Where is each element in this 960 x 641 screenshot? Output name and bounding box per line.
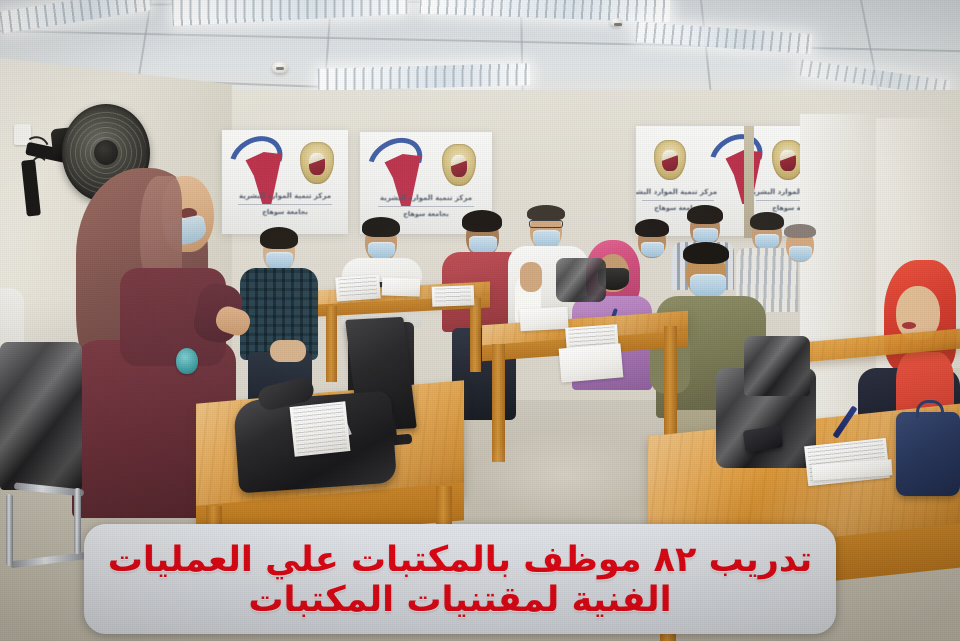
banner-org-text: مركز تنمية الموارد البشرية xyxy=(360,194,492,202)
university-crest-icon xyxy=(300,142,334,184)
papers xyxy=(432,285,475,306)
navy-bag xyxy=(896,412,960,496)
banner-sub-text: بجامعة سوهاج xyxy=(222,208,348,216)
banner-org-text: مركز تنمية الموارد البشرية xyxy=(222,192,348,200)
bag-handle xyxy=(916,400,944,418)
smoke-detector-icon xyxy=(610,18,622,26)
brooch xyxy=(176,348,198,374)
rollup-banner: مركز تنمية الموارد البشرية بجامعة سوهاج xyxy=(222,130,348,234)
chair-leg xyxy=(74,488,81,554)
papers xyxy=(382,277,421,296)
papers xyxy=(335,274,381,301)
floor-highlight xyxy=(470,430,660,520)
ceiling-light-panel xyxy=(171,0,408,26)
ceiling-light-panel xyxy=(318,63,531,91)
university-crest-icon xyxy=(654,140,686,180)
papers xyxy=(290,401,351,457)
smoke-detector-icon xyxy=(272,62,288,73)
university-crest-icon xyxy=(442,144,476,186)
papers xyxy=(519,307,568,331)
lips xyxy=(902,322,916,329)
ceiling-light-panel xyxy=(636,22,813,54)
papers xyxy=(559,343,624,382)
chair xyxy=(0,342,82,490)
chair xyxy=(744,336,810,396)
ceiling-light-panel xyxy=(420,0,671,22)
ceiling-light-panel xyxy=(0,0,151,34)
chair xyxy=(556,258,606,302)
eyeglasses-icon xyxy=(529,220,563,228)
photo-canvas: مركز تنمية الموارد البشرية بجامعة سوهاج … xyxy=(0,0,960,641)
caption-line-1: تدريب ٢٨ موظف بالمكتبات علي العمليات xyxy=(108,542,813,580)
caption-line-2: الفنية لمقتنيات المكتبات xyxy=(248,582,671,620)
caption-banner: تدريب ٢٨ موظف بالمكتبات علي العمليات الف… xyxy=(84,524,836,634)
university-crest-icon xyxy=(772,140,800,180)
chair-leg xyxy=(6,494,13,566)
banner-org-text: مركز تنمية الموارد البشرية xyxy=(636,188,734,196)
